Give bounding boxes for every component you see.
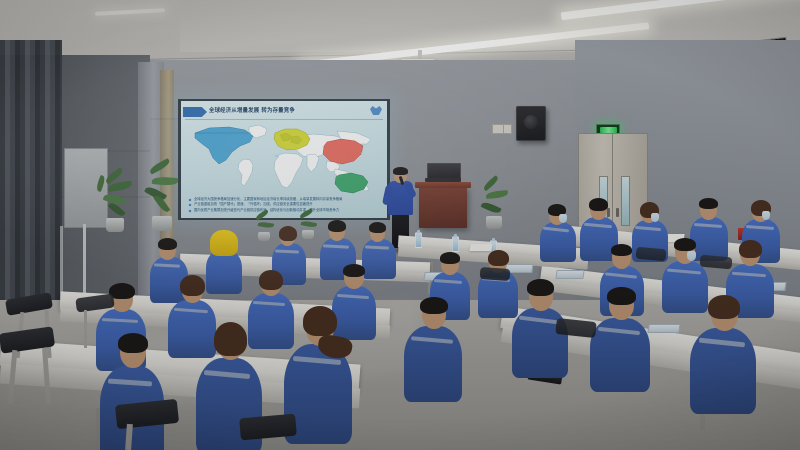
podium-top bbox=[415, 182, 471, 188]
chair-leg bbox=[84, 310, 87, 348]
presenter-hair bbox=[393, 167, 408, 175]
chair[interactable] bbox=[480, 267, 511, 281]
world-map bbox=[187, 123, 381, 195]
projection-screen: 全球经济从增量发展 转为存量竞争 bbox=[181, 101, 387, 218]
slide-bullet: 国内优质产业集群加快升级迭代产业链供应链布局，结构优化与创新驱动并重，提升全球市… bbox=[189, 208, 379, 213]
paper-sheet bbox=[469, 244, 492, 251]
wooden-podium bbox=[419, 186, 467, 228]
conference-room-photo: 全球经济从增量发展 转为存量竞争 bbox=[0, 0, 800, 450]
wall-speaker bbox=[516, 106, 546, 141]
light-switch[interactable] bbox=[503, 124, 512, 134]
speaker-cone-icon bbox=[524, 115, 538, 129]
name-card bbox=[555, 270, 584, 279]
door-glass-panel bbox=[621, 176, 630, 226]
door-handle[interactable] bbox=[607, 208, 610, 217]
slide-title: 全球经济从增量发展 转为存量竞争 bbox=[209, 106, 379, 116]
door-handle[interactable] bbox=[616, 208, 619, 217]
name-card bbox=[647, 324, 680, 333]
slide-title-rule bbox=[185, 119, 383, 120]
water-bottle[interactable] bbox=[415, 232, 422, 248]
chair[interactable] bbox=[636, 247, 667, 262]
water-bottle[interactable] bbox=[452, 236, 459, 252]
slide-bullet-list: 全球经济大国竞争格局加速分化，主要国家和地区经济增长率持续放缓，从增量发展转向存… bbox=[189, 197, 379, 213]
slide-title-arrow bbox=[183, 107, 207, 117]
laptop-keyboard[interactable] bbox=[425, 178, 461, 182]
wood-pillar bbox=[160, 70, 174, 240]
